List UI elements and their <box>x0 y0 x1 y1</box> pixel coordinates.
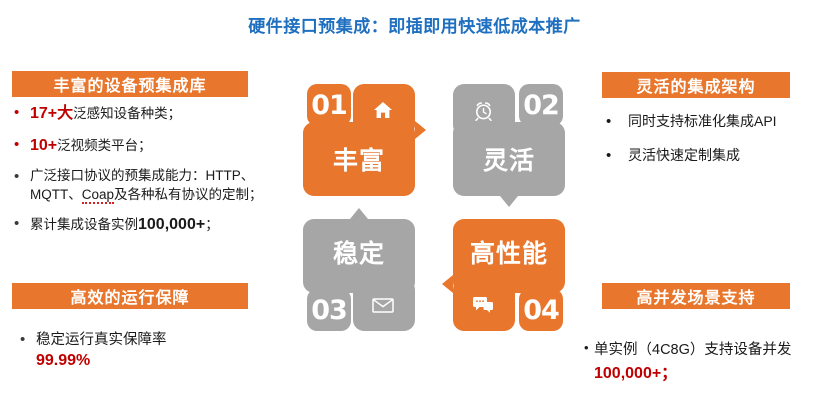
home-icon-svg <box>373 101 393 119</box>
list-item: • 同时支持标准化集成API <box>606 112 821 132</box>
list-item: • 单实例（4C8G）支持设备并发100,000+； <box>584 340 829 386</box>
envelope-icon <box>365 289 401 321</box>
q01-label: 丰富 <box>303 126 415 192</box>
list-item: • 灵活快速定制集成 <box>606 146 821 166</box>
connector-arrow-03-to-01 <box>350 208 368 219</box>
list-item: • 广泛接口协议的预集成能力：HTTP、MQTT、Coap及各种私有协议的定制； <box>14 167 280 204</box>
bullet-list-library: • 17+大泛感知设备种类； • 10+泛视频类平台； • 广泛接口协议的预集成… <box>14 103 280 246</box>
connector-arrow-04-to-03 <box>442 275 453 293</box>
lib-b3-line2c: 及各种私有协议的定制； <box>114 187 263 202</box>
q04-number-badge: 04 <box>519 289 563 331</box>
lib-b4-number: 100,000+ <box>138 216 205 233</box>
q04-label: 高性能 <box>453 219 565 285</box>
lib-b4-pre: 累计集成设备实例 <box>30 217 138 232</box>
diagram-quadrant-03[interactable]: 03 稳定 <box>303 207 427 319</box>
section-header-concurrency: 高并发场景支持 <box>602 283 790 309</box>
bullet-list-operations: • 稳定运行真实保障率99.99% <box>20 330 270 379</box>
conc-pre: 单实例（4C8G）支持设备并发 <box>594 342 791 358</box>
envelope-icon-svg <box>372 298 394 313</box>
q03-number-badge: 03 <box>307 289 351 331</box>
alarm-clock-icon <box>465 94 501 126</box>
list-item: • 累计集成设备实例100,000+； <box>14 214 280 236</box>
list-item-text: 单实例（4C8G）支持设备并发100,000+； <box>594 340 829 386</box>
bullet-marker: • <box>14 135 30 155</box>
chat-icon-svg <box>472 296 494 314</box>
diagram-quadrant-01[interactable]: 01 丰富 <box>303 84 427 196</box>
q03-label: 稳定 <box>303 219 415 285</box>
list-item-text: 17+大泛感知设备种类； <box>30 103 280 125</box>
list-item-text: 稳定运行真实保障率99.99% <box>36 330 270 372</box>
bullet-marker: • <box>606 146 628 166</box>
bullet-marker: • <box>606 112 628 132</box>
list-item-text: 灵活快速定制集成 <box>628 146 821 165</box>
bullet-marker: • <box>14 214 30 234</box>
central-diagram: 01 丰富 02 <box>303 84 565 319</box>
list-item: • 17+大泛感知设备种类； <box>14 103 280 125</box>
list-item-text: 广泛接口协议的预集成能力：HTTP、MQTT、Coap及各种私有协议的定制； <box>30 167 280 204</box>
lib-b3-coap: Coap <box>82 187 114 204</box>
q02-label: 灵活 <box>453 126 565 192</box>
q02-number-badge: 02 <box>519 84 563 126</box>
list-item-text: 同时支持标准化集成API <box>628 112 821 131</box>
section-header-operations: 高效的运行保障 <box>12 283 248 309</box>
list-item: • 稳定运行真实保障率99.99% <box>20 330 270 372</box>
bullet-marker: • <box>584 340 594 357</box>
bullet-marker: • <box>20 330 36 350</box>
lib-b3-line2a: MQTT、 <box>30 187 82 202</box>
lib-b3-line1: 广泛接口协议的预集成能力：HTTP、 <box>30 168 254 183</box>
lib-b2-lead: 10+ <box>30 137 57 154</box>
list-item: • 10+泛视频类平台； <box>14 135 280 157</box>
bullet-marker: • <box>14 167 30 187</box>
bullet-marker: • <box>14 103 30 123</box>
lib-b2-rest: 泛视频类平台； <box>57 138 152 153</box>
bullet-list-concurrency: • 单实例（4C8G）支持设备并发100,000+； <box>584 340 829 393</box>
q01-number-badge: 01 <box>307 84 351 126</box>
list-item-text: 累计集成设备实例100,000+； <box>30 214 280 236</box>
ops-metric: 99.99% <box>36 352 90 369</box>
lib-b1-lead: 17+大 <box>30 105 73 122</box>
page-title: 硬件接口预集成：即插即用快速低成本推广 <box>0 12 829 37</box>
connector-arrow-02-to-04 <box>500 196 518 207</box>
lib-b1-rest: 泛感知设备种类； <box>73 106 181 121</box>
connector-arrow-01-to-02 <box>415 121 426 139</box>
alarm-clock-icon-svg <box>473 100 494 121</box>
home-icon <box>365 94 401 126</box>
list-item-text: 10+泛视频类平台； <box>30 135 280 157</box>
ops-line1: 稳定运行真实保障率 <box>36 332 167 348</box>
conc-number: 100,000+； <box>594 365 677 382</box>
section-header-library: 丰富的设备预集成库 <box>12 71 248 97</box>
lib-b4-post: ； <box>205 217 219 232</box>
diagram-quadrant-04[interactable]: 04 高性能 <box>441 207 565 319</box>
section-header-architecture: 灵活的集成架构 <box>602 72 790 98</box>
bullet-list-architecture: • 同时支持标准化集成API • 灵活快速定制集成 <box>606 112 821 179</box>
chat-icon <box>465 289 501 321</box>
slide-canvas: 硬件接口预集成：即插即用快速低成本推广 丰富的设备预集成库 • 17+大泛感知设… <box>0 0 829 415</box>
diagram-quadrant-02[interactable]: 02 灵活 <box>441 84 565 196</box>
